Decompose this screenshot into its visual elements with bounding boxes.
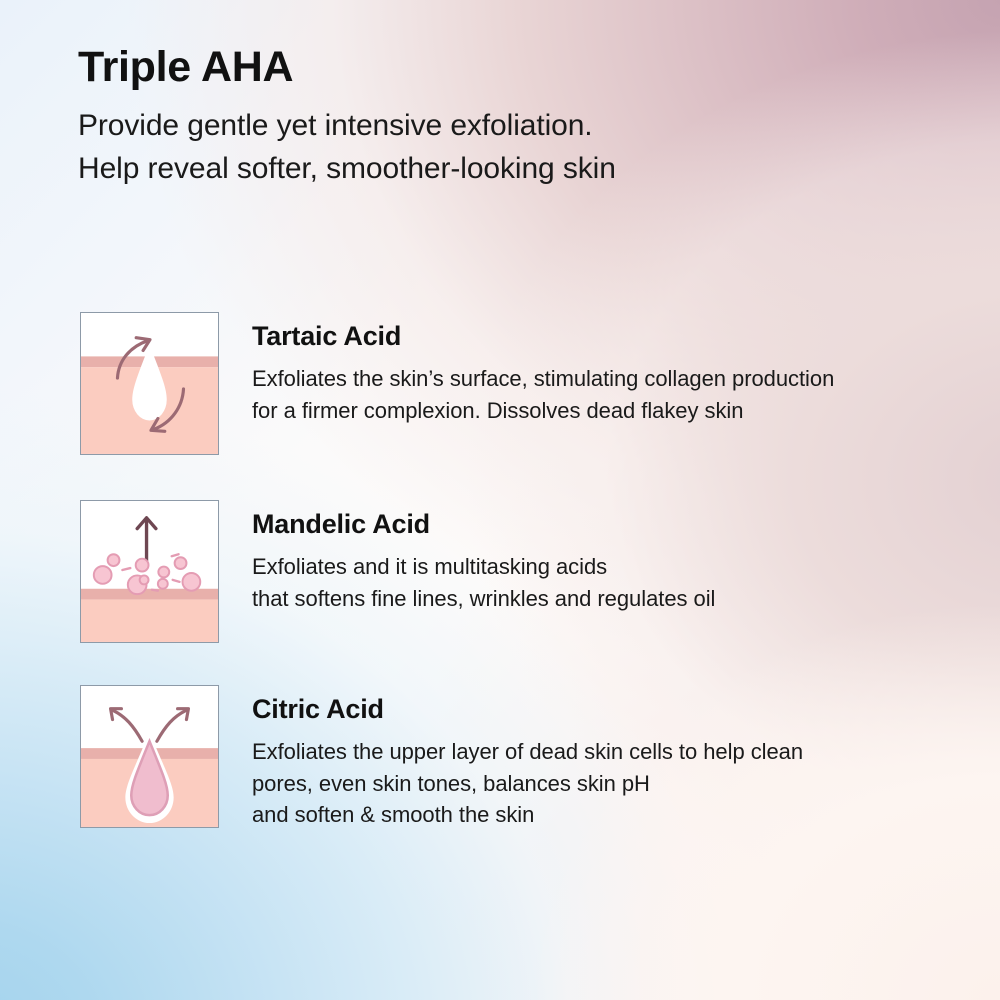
description-line: Exfoliates and it is multitasking acids xyxy=(252,551,960,583)
droplet-with-circulating-arrows-icon xyxy=(80,312,219,455)
subtitle-line-2: Help reveal softer, smoother-looking ski… xyxy=(78,148,938,191)
feature-title: Mandelic Acid xyxy=(252,510,960,540)
feature-description: Exfoliates and it is multitasking acids … xyxy=(252,551,960,615)
feature-list: Tartaic Acid Exfoliates the skin’s surfa… xyxy=(80,312,960,831)
page-title: Triple AHA xyxy=(78,43,938,91)
description-line: Exfoliates the upper layer of dead skin … xyxy=(252,736,960,768)
description-line: pores, even skin tones, balances skin pH xyxy=(252,768,960,800)
particles-rising-up-arrow-icon xyxy=(80,500,219,643)
feature-text: Citric Acid Exfoliates the upper layer o… xyxy=(252,685,960,831)
feature-text: Tartaic Acid Exfoliates the skin’s surfa… xyxy=(252,312,960,426)
feature-title: Tartaic Acid xyxy=(252,322,960,352)
feature-text: Mandelic Acid Exfoliates and it is multi… xyxy=(252,500,960,614)
feature-title: Citric Acid xyxy=(252,695,960,725)
feature-description: Exfoliates the skin’s surface, stimulati… xyxy=(252,363,960,427)
page-subtitle: Provide gentle yet intensive exfoliation… xyxy=(78,105,938,190)
description-line: Exfoliates the skin’s surface, stimulati… xyxy=(252,363,960,395)
header: Triple AHA Provide gentle yet intensive … xyxy=(78,43,938,190)
pink-droplet-splaying-arrows-icon xyxy=(80,685,219,828)
subtitle-line-1: Provide gentle yet intensive exfoliation… xyxy=(78,105,938,148)
description-line: and soften & smooth the skin xyxy=(252,799,960,831)
infographic-poster: Triple AHA Provide gentle yet intensive … xyxy=(0,0,1000,1000)
feature-description: Exfoliates the upper layer of dead skin … xyxy=(252,736,960,832)
description-line: that softens fine lines, wrinkles and re… xyxy=(252,583,960,615)
poster-content: Triple AHA Provide gentle yet intensive … xyxy=(0,0,1000,1000)
description-line: for a firmer complexion. Dissolves dead … xyxy=(252,395,960,427)
feature-item: Mandelic Acid Exfoliates and it is multi… xyxy=(80,500,960,643)
feature-item: Tartaic Acid Exfoliates the skin’s surfa… xyxy=(80,312,960,455)
feature-item: Citric Acid Exfoliates the upper layer o… xyxy=(80,685,960,831)
